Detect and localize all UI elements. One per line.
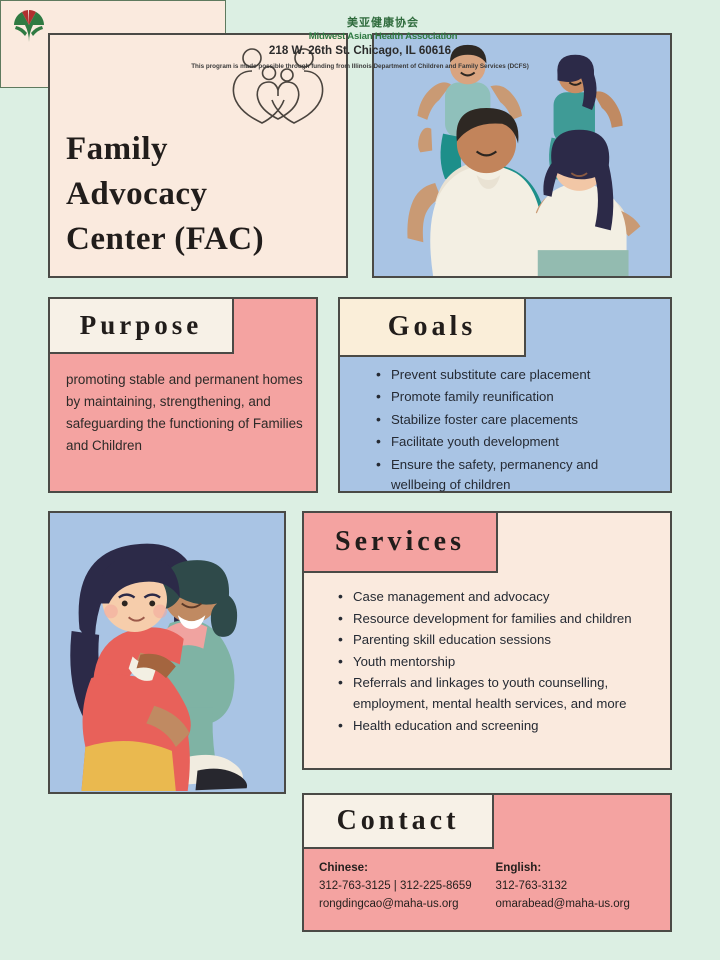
- services-heading-box: Services: [302, 511, 498, 573]
- contact-column-english: English: 312-763-3132 omarabead@maha-us.…: [496, 861, 661, 914]
- contact-phone-english[interactable]: 312-763-3132: [496, 878, 661, 896]
- list-item: Parenting skill education sessions: [338, 630, 654, 651]
- goals-heading: Goals: [388, 311, 476, 343]
- services-section: Services Case management and advocacy Re…: [302, 511, 672, 770]
- family-heart-outline-icon: [224, 45, 332, 132]
- maha-logo-row: 美亚健康协会 Midwest Asian Health Association: [10, 8, 712, 47]
- list-item: Facilitate youth development: [376, 432, 656, 452]
- goals-list: Prevent substitute care placement Promot…: [376, 365, 656, 498]
- purpose-section: Purpose promoting stable and permanent h…: [48, 297, 318, 493]
- goals-heading-box: Goals: [338, 297, 526, 357]
- maha-name-cn: 美亚健康协会: [347, 17, 419, 29]
- maha-tree-logo-icon: [10, 8, 48, 47]
- contact-label-chinese: Chinese:: [319, 861, 484, 874]
- title-line-1: Family: [66, 127, 264, 172]
- list-item: Case management and advocacy: [338, 587, 654, 608]
- maha-address: 218 W. 26th St. Chicago, IL 60616: [0, 44, 720, 57]
- maha-funding-note: This program is made possible through fu…: [8, 62, 712, 71]
- services-heading: Services: [335, 526, 465, 558]
- poster-canvas: Family Advocacy Center (FAC): [0, 0, 720, 960]
- page-title: Family Advocacy Center (FAC): [66, 127, 264, 262]
- purpose-heading-box: Purpose: [48, 297, 234, 354]
- list-item: Health education and screening: [338, 716, 654, 737]
- mother-holding-child-illustration: [48, 511, 286, 794]
- list-item: Youth mentorship: [338, 652, 654, 673]
- contact-email-chinese[interactable]: rongdingcao@maha-us.org: [319, 896, 484, 914]
- contact-email-english[interactable]: omarabead@maha-us.org: [496, 896, 661, 914]
- list-item: Resource development for families and ch…: [338, 609, 654, 630]
- contact-phone-chinese[interactable]: 312-763-3125 | 312-225-8659: [319, 878, 484, 896]
- contact-label-english: English:: [496, 861, 661, 874]
- maha-name-en: Midwest Asian Health Association: [54, 32, 712, 42]
- goals-section: Goals Prevent substitute care placement …: [338, 297, 672, 493]
- contact-heading: Contact: [337, 805, 460, 837]
- services-list: Case management and advocacy Resource de…: [338, 587, 654, 737]
- mother-illustration-svg: [50, 513, 284, 791]
- contact-section: Contact Chinese: 312-763-3125 | 312-225-…: [302, 793, 672, 932]
- contact-column-chinese: Chinese: 312-763-3125 | 312-225-8659 ron…: [319, 861, 484, 914]
- maha-org-names: 美亚健康协会 Midwest Asian Health Association: [54, 14, 712, 42]
- contact-heading-box: Contact: [302, 793, 494, 849]
- list-item: Stabilize foster care placements: [376, 410, 656, 430]
- title-line-3: Center (FAC): [66, 217, 264, 262]
- list-item: Ensure the safety, permanency and wellbe…: [376, 455, 656, 496]
- purpose-body-text: promoting stable and permanent homes by …: [66, 369, 304, 456]
- list-item: Prevent substitute care placement: [376, 365, 656, 385]
- list-item: Referrals and linkages to youth counsell…: [338, 673, 654, 714]
- contact-columns: Chinese: 312-763-3125 | 312-225-8659 ron…: [319, 861, 660, 914]
- list-item: Promote family reunification: [376, 387, 656, 407]
- title-line-2: Advocacy: [66, 172, 264, 217]
- purpose-heading: Purpose: [80, 310, 203, 341]
